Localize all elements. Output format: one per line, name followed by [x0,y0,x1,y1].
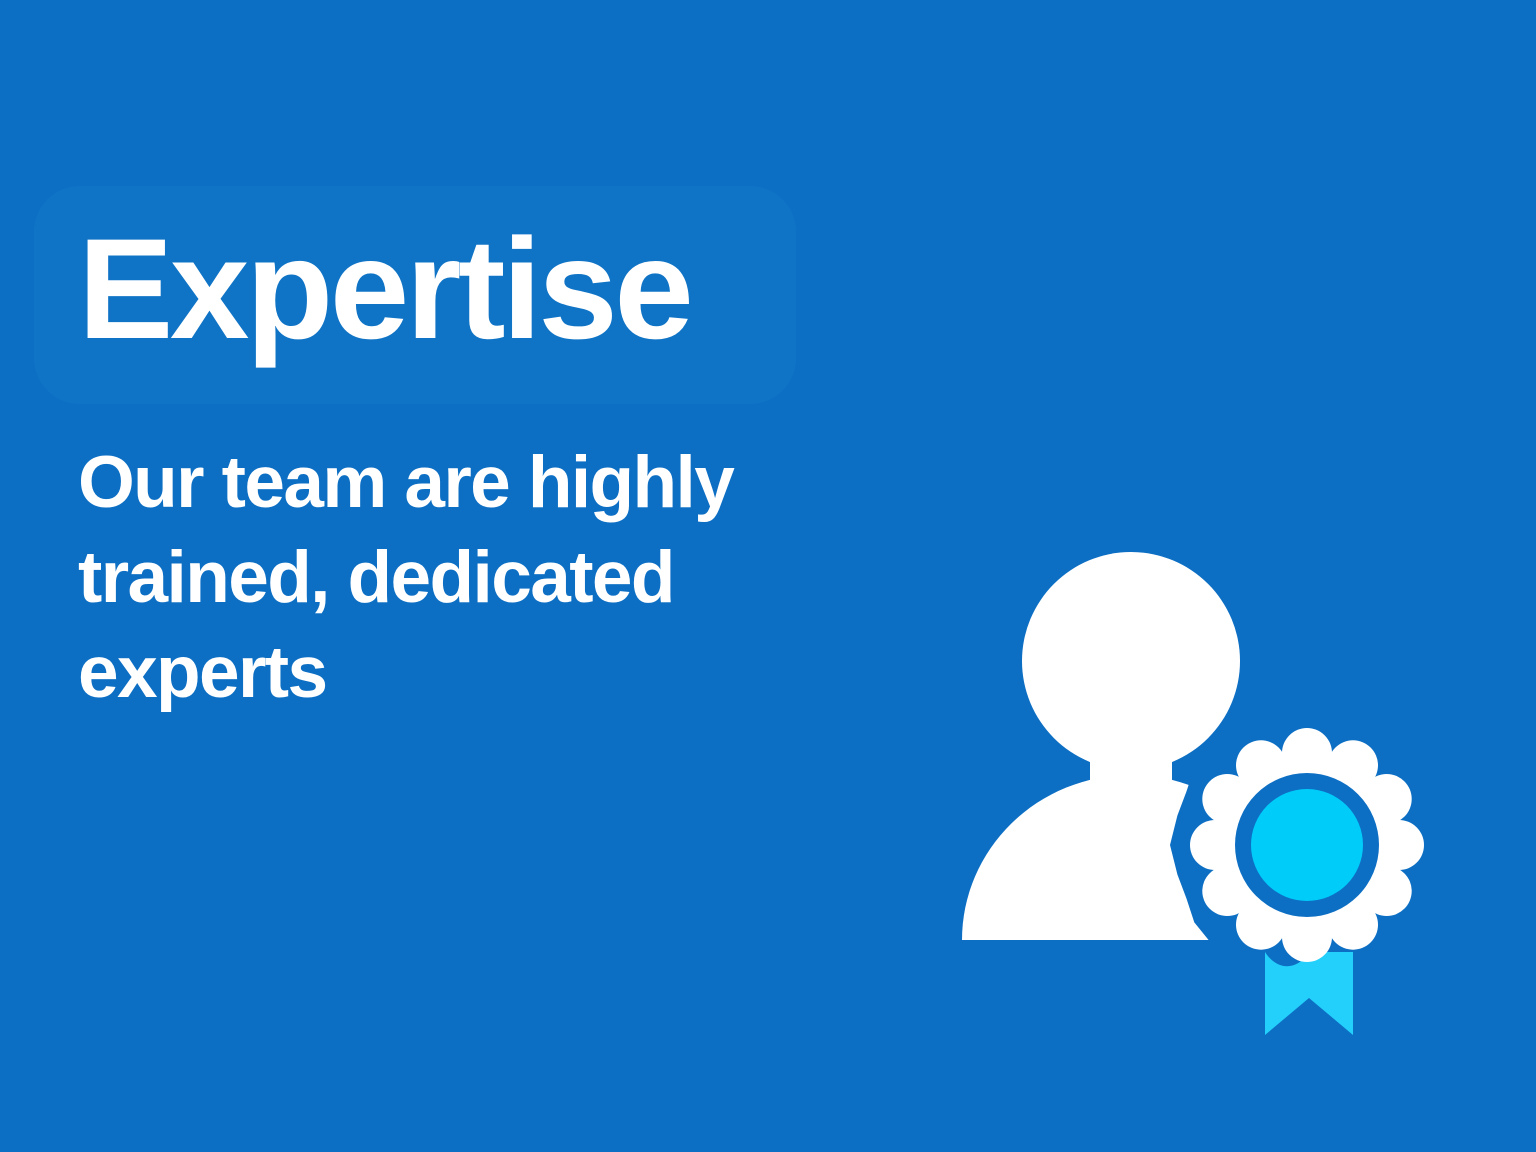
text-block: Expertise Our team are highly trained, d… [78,218,948,720]
certified-person-badge-icon [940,520,1460,1060]
page-title: Expertise [78,218,948,361]
badge-ribbon [1265,952,1353,1035]
badge-center [1251,789,1363,901]
award-badge [1190,728,1424,1035]
expertise-promo-card: Expertise Our team are highly trained, d… [0,0,1536,1152]
subtitle-text: Our team are highly trained, dedicated e… [78,361,908,720]
